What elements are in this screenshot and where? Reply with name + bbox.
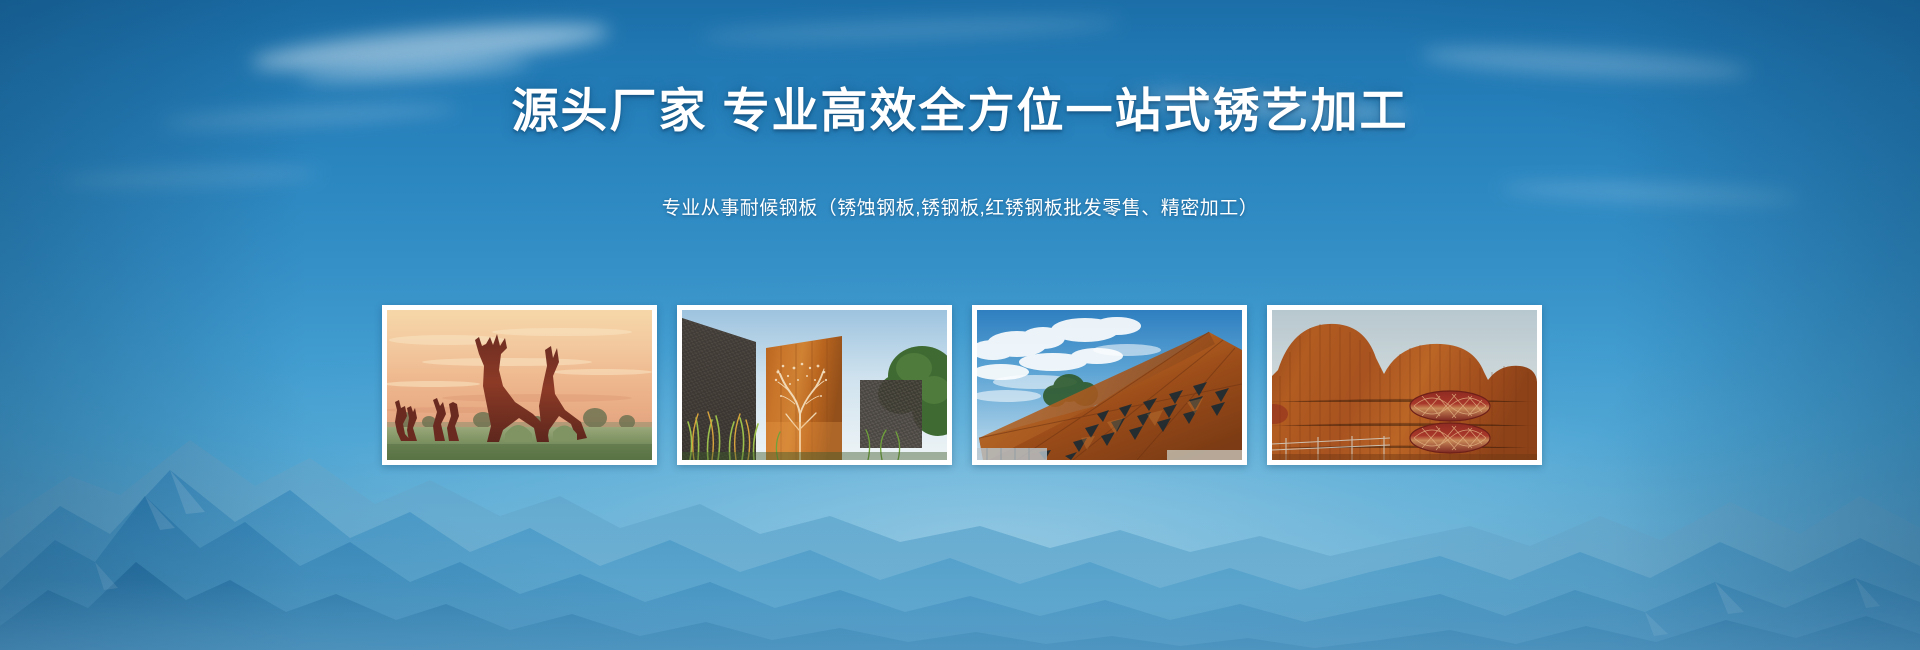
headline-container: 源头厂家 专业高效全方位一站式锈艺加工 (0, 84, 1920, 138)
corten-curved-facade-image (1272, 310, 1537, 460)
corten-deer-sculptures-image (387, 310, 652, 460)
gallery-item[interactable] (677, 305, 952, 465)
gallery-item[interactable] (382, 305, 657, 465)
subline-container: 专业从事耐候钢板（锈蚀钢板,锈钢板,红锈钢板批发零售、精密加工） (0, 193, 1920, 220)
gallery-item[interactable] (1267, 305, 1542, 465)
product-gallery (382, 305, 1542, 465)
hero-banner: 源头厂家 专业高效全方位一站式锈艺加工 专业从事耐候钢板（锈蚀钢板,锈钢板,红锈… (0, 0, 1920, 650)
corten-triangular-canopy-image (977, 310, 1242, 460)
gallery-item[interactable] (972, 305, 1247, 465)
page-subtitle: 专业从事耐候钢板（锈蚀钢板,锈钢板,红锈钢板批发零售、精密加工） (662, 193, 1259, 220)
corten-tree-screen-wall-image (682, 310, 947, 460)
page-title: 源头厂家 专业高效全方位一站式锈艺加工 (511, 84, 1408, 138)
